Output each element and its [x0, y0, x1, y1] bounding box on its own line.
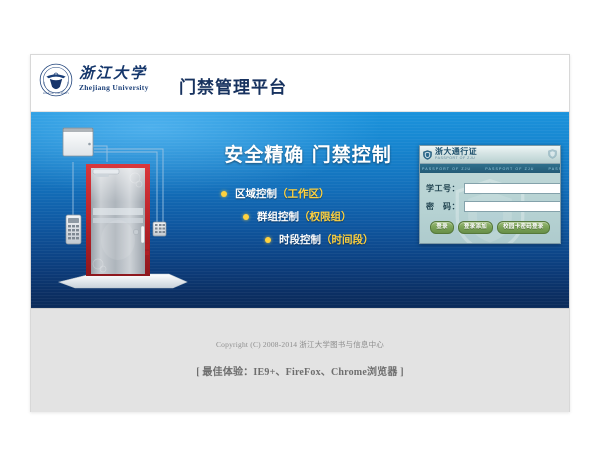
login-widget-title-cn: 浙大通行证 [435, 148, 477, 156]
hero-feature-item: 时段控制 （时间段） [199, 232, 417, 247]
access-control-door-illustration [45, 122, 195, 302]
footer-copyright: Copyright (C) 2008-2014 浙江大学图书与信息中心 [31, 309, 569, 350]
site-card: ZHEJIANG UNIVERSITY 浙江大学 Zhejiang Univer… [30, 54, 570, 412]
login-form: 学工号： 密 码： 登录 登录添加 校园卡密码登录 [420, 173, 560, 243]
page-title: 门禁管理平台 [179, 73, 287, 98]
bullet-dot-icon [243, 214, 249, 220]
university-name-cn: 浙江大学 [79, 67, 149, 82]
login-button-row: 登录 登录添加 校园卡密码登录 [426, 221, 554, 234]
footer-browser-recommendation: [ 最佳体验：IE9+、FireFox、Chrome浏览器 ] [31, 363, 569, 378]
hero-headline: 安全精确 门禁控制 [199, 140, 417, 167]
marquee-text: PASSPORT OF ZJU [549, 167, 561, 171]
site-footer: Copyright (C) 2008-2014 浙江大学图书与信息中心 [ 最佳… [31, 308, 569, 412]
zju-wordmark: 浙江大学 Zhejiang University [79, 67, 149, 93]
brand-block[interactable]: ZHEJIANG UNIVERSITY 浙江大学 Zhejiang Univer… [39, 63, 149, 97]
login-widget-title-en: PASSPORT OF ZJU [435, 157, 477, 161]
university-name-en: Zhejiang University [79, 84, 149, 92]
student-staff-id-label: 学工号： [426, 183, 460, 194]
marquee-text: PASSPORT OF ZJU [422, 167, 471, 171]
svg-text:ZHEJIANG UNIVERSITY: ZHEJIANG UNIVERSITY [43, 92, 69, 95]
hero-feature-paren: （权限组） [299, 209, 352, 224]
site-header: ZHEJIANG UNIVERSITY 浙江大学 Zhejiang Univer… [31, 55, 569, 112]
zju-seal-icon: ZHEJIANG UNIVERSITY [39, 63, 73, 97]
hero-feature-list: 区域控制 （工作区） 群组控制 （权限组） 时段控制 （时间段） [199, 186, 417, 247]
hero-feature-label: 群组控制 [257, 209, 299, 224]
campus-card-login-button[interactable]: 校园卡密码登录 [497, 221, 550, 234]
login-widget-titlebar: 浙大通行证 PASSPORT OF ZJU [420, 146, 560, 164]
form-row-password: 密 码： [426, 201, 554, 212]
form-row-student-id: 学工号： [426, 183, 554, 194]
shield-icon-secondary [548, 149, 557, 159]
shield-icon [423, 150, 432, 160]
hero-feature-paren: （时间段） [321, 232, 374, 247]
password-field[interactable] [464, 201, 560, 212]
hero-feature-item: 群组控制 （权限组） [199, 209, 417, 224]
bullet-dot-icon [221, 191, 227, 197]
hero-feature-label: 区域控制 [235, 186, 277, 201]
bullet-dot-icon [265, 237, 271, 243]
hero-feature-item: 区域控制 （工作区） [199, 186, 417, 201]
student-staff-id-field[interactable] [464, 183, 560, 194]
login-button[interactable]: 登录 [430, 221, 454, 234]
hero-feature-label: 时段控制 [279, 232, 321, 247]
hero-copy: 安全精确 门禁控制 区域控制 （工作区） 群组控制 （权限组） 时段控 [199, 140, 417, 255]
login-widget: 浙大通行证 PASSPORT OF ZJU PASSPORT OF ZJU PA… [419, 145, 561, 244]
marquee-text: PASSPORT OF ZJU [485, 167, 534, 171]
password-label: 密 码： [426, 201, 460, 212]
page-root: ZHEJIANG UNIVERSITY 浙江大学 Zhejiang Univer… [0, 0, 600, 450]
login-widget-title-text: 浙大通行证 PASSPORT OF ZJU [435, 148, 477, 161]
login-marquee: PASSPORT OF ZJU PASSPORT OF ZJU PASSPORT… [420, 164, 560, 173]
hero-banner: 安全精确 门禁控制 区域控制 （工作区） 群组控制 （权限组） 时段控 [31, 112, 569, 308]
hero-feature-paren: （工作区） [277, 186, 330, 201]
login-add-button[interactable]: 登录添加 [458, 221, 493, 234]
